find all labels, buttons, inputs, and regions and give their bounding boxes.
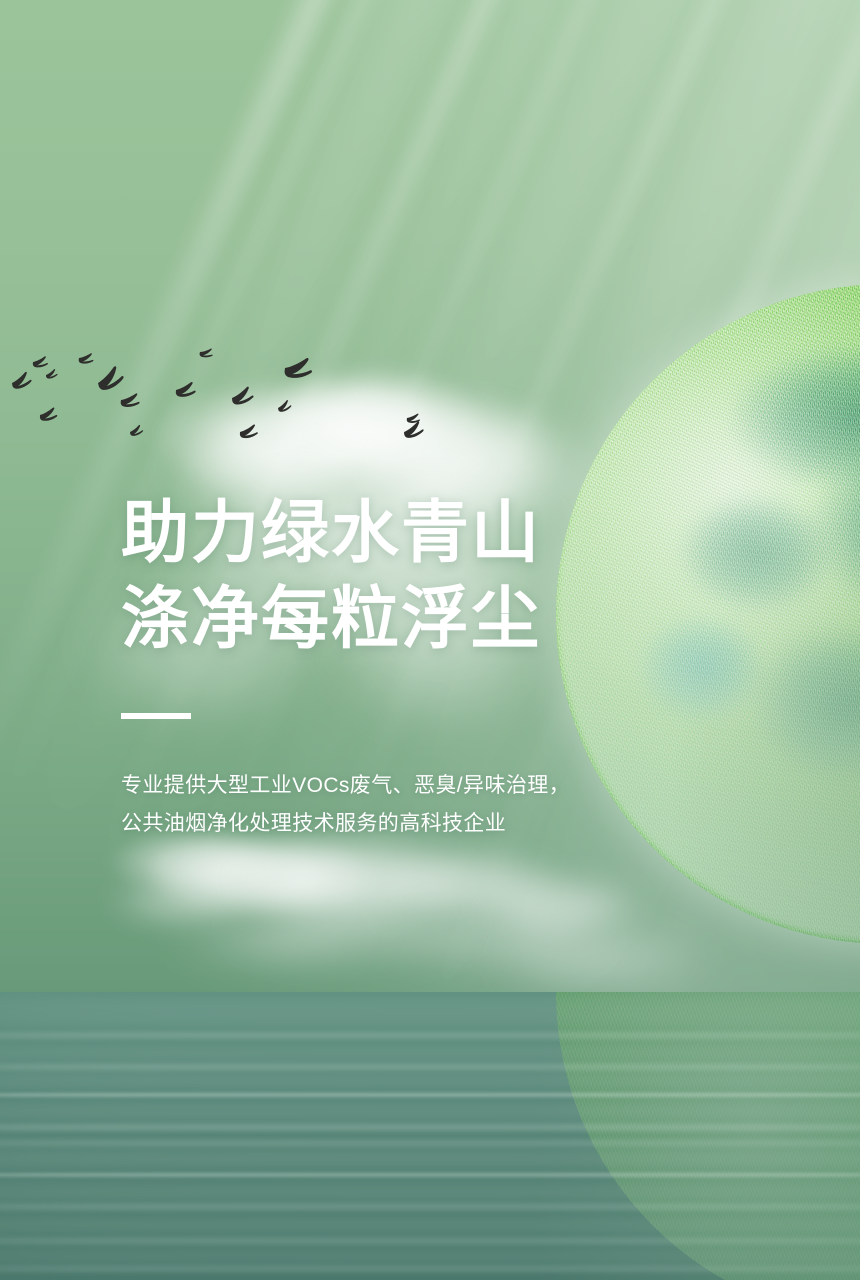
wave-streak-5: [0, 1064, 860, 1070]
wave-streak-16: [0, 1238, 860, 1244]
wave-streak-15: [0, 1220, 860, 1231]
wave-streak-11: [0, 1154, 860, 1164]
wave-streak-6: [0, 1076, 860, 1085]
wave-streak-1: [0, 1000, 860, 1010]
wave-streak-12: [0, 1172, 860, 1178]
headline-line-2: 涤净每粒浮尘: [121, 576, 681, 662]
wave-streak-9: [0, 1124, 860, 1131]
hero-copy: 助力绿水青山 涤净每粒浮尘 专业提供大型工业VOCs废气、恶臭/异味治理， 公共…: [121, 490, 681, 843]
hero-banner: 助力绿水青山 涤净每粒浮尘 专业提供大型工业VOCs废气、恶臭/异味治理， 公共…: [0, 0, 860, 1280]
subtitle-line-1: 专业提供大型工业VOCs废气、恶臭/异味治理，: [121, 767, 681, 805]
wave-streak-4: [0, 1048, 860, 1058]
wave-streak-2: [0, 1016, 860, 1024]
wave-streak-14: [0, 1204, 860, 1210]
wave-streak-10: [0, 1140, 860, 1146]
subtitle-line-2: 公共油烟净化处理技术服务的高科技企业: [121, 805, 681, 843]
wave-streak-17: [0, 1252, 860, 1261]
headline-line-1: 助力绿水青山: [121, 490, 681, 576]
wave-streak-8: [0, 1106, 860, 1117]
wave-streak-7: [0, 1092, 860, 1098]
water-surface: [0, 992, 860, 1280]
wave-streak-13: [0, 1188, 860, 1197]
wave-streak-18: [0, 1266, 860, 1272]
headline-divider: [121, 713, 191, 719]
wave-streak-3: [0, 1032, 860, 1039]
